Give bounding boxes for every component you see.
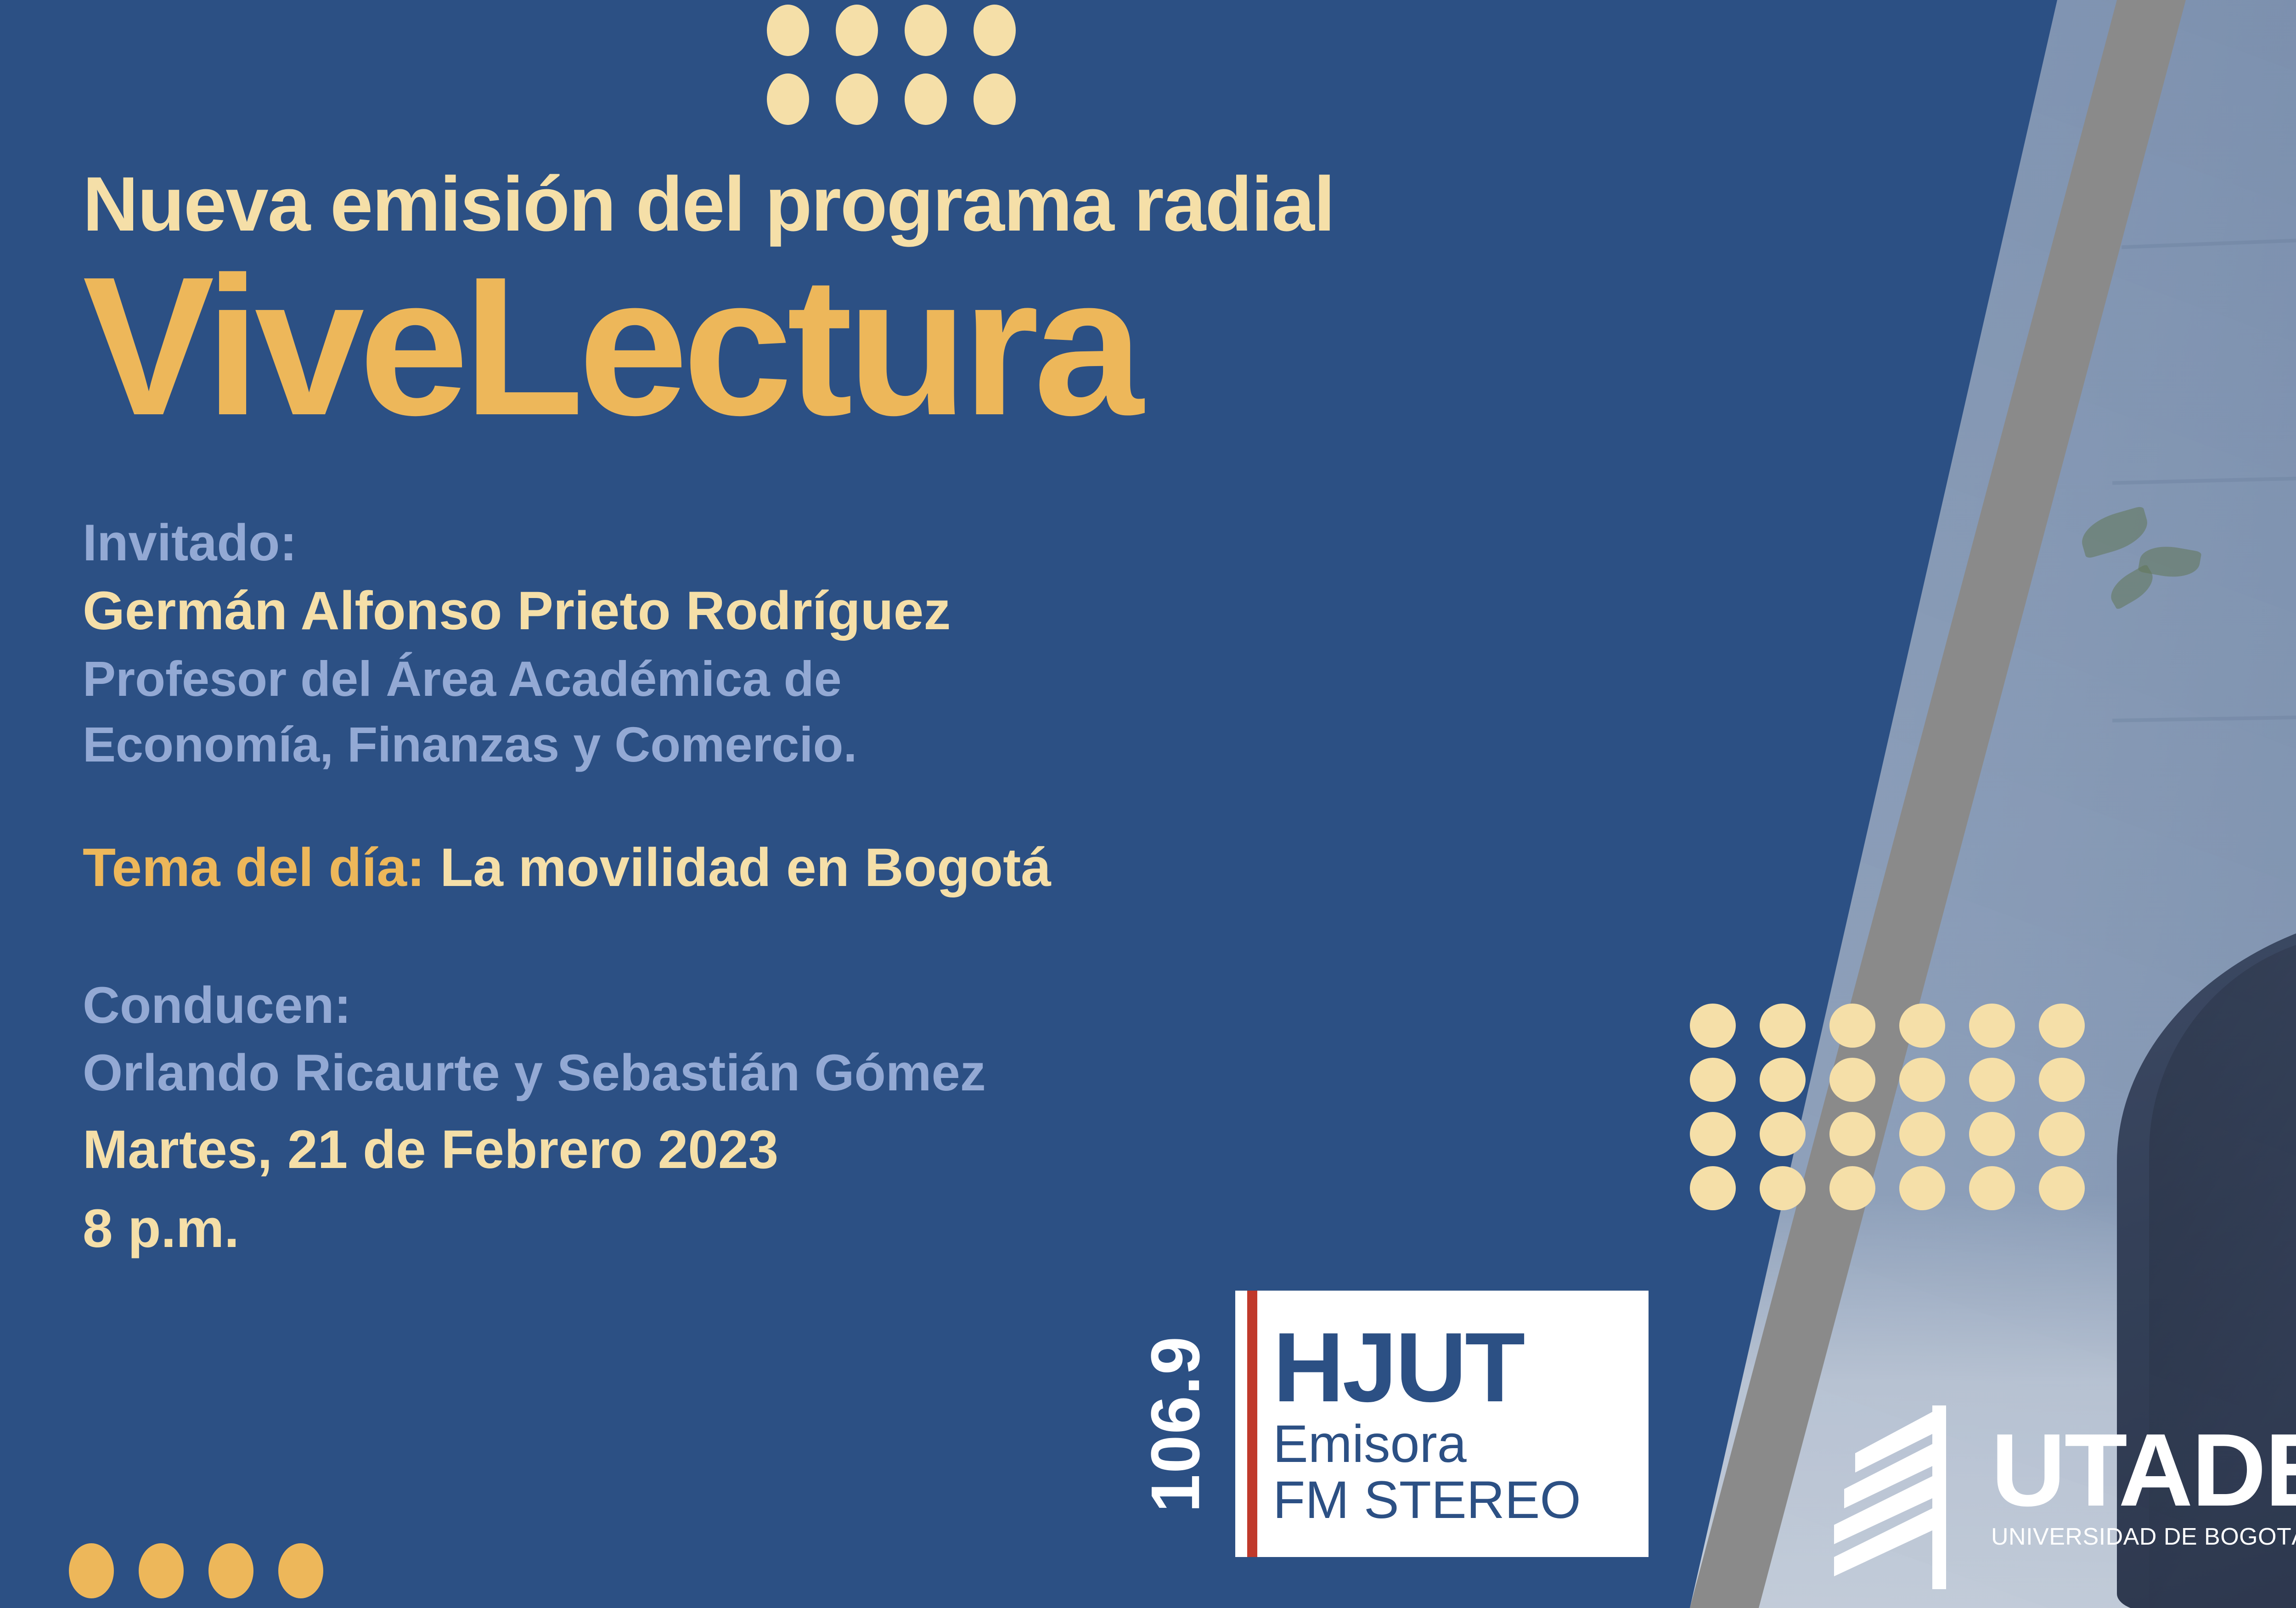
decor-dot xyxy=(1829,1166,1875,1210)
hjut-subtitle-emisora: Emisora xyxy=(1273,1416,1649,1473)
decor-dot xyxy=(1690,1058,1736,1102)
guest-name: Germán Alfonso Prieto Rodríguez xyxy=(83,576,1644,646)
utadeo-book-icon-svg xyxy=(1828,1405,1979,1589)
hjut-red-rule xyxy=(1247,1291,1257,1557)
decor-dot xyxy=(1899,1004,1945,1048)
decor-dot xyxy=(1760,1112,1806,1156)
decor-dot xyxy=(1899,1058,1945,1102)
decor-dot xyxy=(2039,1004,2085,1048)
headline: Nueva emisión del programa radial xyxy=(83,165,1644,243)
dot-pattern-middle xyxy=(1690,1004,2109,1220)
topic-line: Tema del día: La movilidad en Bogotá xyxy=(83,833,1644,903)
decor-dot xyxy=(1760,1004,1806,1048)
decor-dot xyxy=(1969,1004,2015,1048)
decor-dot xyxy=(139,1543,184,1598)
decor-dot xyxy=(1829,1058,1875,1102)
poster-text-column: Nueva emisión del programa radial ViveLe… xyxy=(83,0,1644,1264)
decor-dot xyxy=(208,1543,253,1598)
hosts-names: Orlando Ricaurte y Sebastián Gómez xyxy=(83,1039,1644,1107)
decor-dot xyxy=(1760,1058,1806,1102)
decor-dot xyxy=(1760,1166,1806,1210)
guest-role-line-1: Profesor del Área Académica de xyxy=(83,646,1644,712)
decor-dot xyxy=(1829,1112,1875,1156)
decor-dot xyxy=(1690,1004,1736,1048)
guest-role-line-2: Economía, Finanzas y Comercio. xyxy=(83,712,1644,778)
dot-pattern-bottom-left xyxy=(69,1543,348,1608)
decor-dot xyxy=(1969,1112,2015,1156)
decor-dot xyxy=(69,1543,114,1598)
decor-dot xyxy=(1969,1058,2015,1102)
broadcast-time: 8 p.m. xyxy=(83,1194,1644,1264)
utadeo-tagline: UNIVERSIDAD DE BOGOTÁ JORGE TADEO LOZANO xyxy=(1991,1523,2296,1551)
utadeo-name: UTADEO xyxy=(1991,1426,2296,1515)
program-wordmark: ViveLectura xyxy=(83,253,1644,440)
decor-dot xyxy=(1969,1166,2015,1210)
decor-dot xyxy=(2039,1166,2085,1210)
hjut-text-block: HJUT Emisora FM STEREO xyxy=(1257,1291,1649,1557)
decor-dot xyxy=(1899,1166,1945,1210)
guest-block: Invitado: Germán Alfonso Prieto Rodrígue… xyxy=(83,509,1644,778)
decor-dot xyxy=(1690,1112,1736,1156)
decor-dot xyxy=(278,1543,323,1598)
utadeo-book-icon xyxy=(1828,1405,1979,1589)
utadeo-logo: UTADEO UNIVERSIDAD DE BOGOTÁ JORGE TADEO… xyxy=(1828,1405,2296,1589)
hjut-callsign: HJUT xyxy=(1273,1322,1649,1413)
decor-dot xyxy=(1690,1166,1736,1210)
hjut-frequency-panel: 106.9 xyxy=(1116,1291,1235,1557)
broadcast-date: Martes, 21 de Febrero 2023 xyxy=(83,1115,1644,1185)
hosts-block: Conducen: Orlando Ricaurte y Sebastián G… xyxy=(83,972,1644,1264)
decor-dot xyxy=(1899,1112,1945,1156)
decor-dot xyxy=(2039,1058,2085,1102)
hjut-subtitle-fm-stereo: FM STEREO xyxy=(1273,1473,1649,1529)
decor-dot xyxy=(1829,1004,1875,1048)
topic-value: La movilidad en Bogotá xyxy=(440,837,1051,898)
hjut-frequency: 106.9 xyxy=(1136,1335,1216,1512)
utadeo-name-block: UTADEO UNIVERSIDAD DE BOGOTÁ JORGE TADEO… xyxy=(1991,1405,2296,1551)
hosts-label: Conducen: xyxy=(83,972,1644,1039)
topic-label: Tema del día: xyxy=(83,837,425,898)
hjut-radio-logo: 106.9 HJUT Emisora FM STEREO xyxy=(1116,1291,1649,1557)
promo-poster: Nueva emisión del programa radial ViveLe… xyxy=(0,0,2296,1608)
decor-dot xyxy=(2039,1112,2085,1156)
guest-label: Invitado: xyxy=(83,509,1644,576)
